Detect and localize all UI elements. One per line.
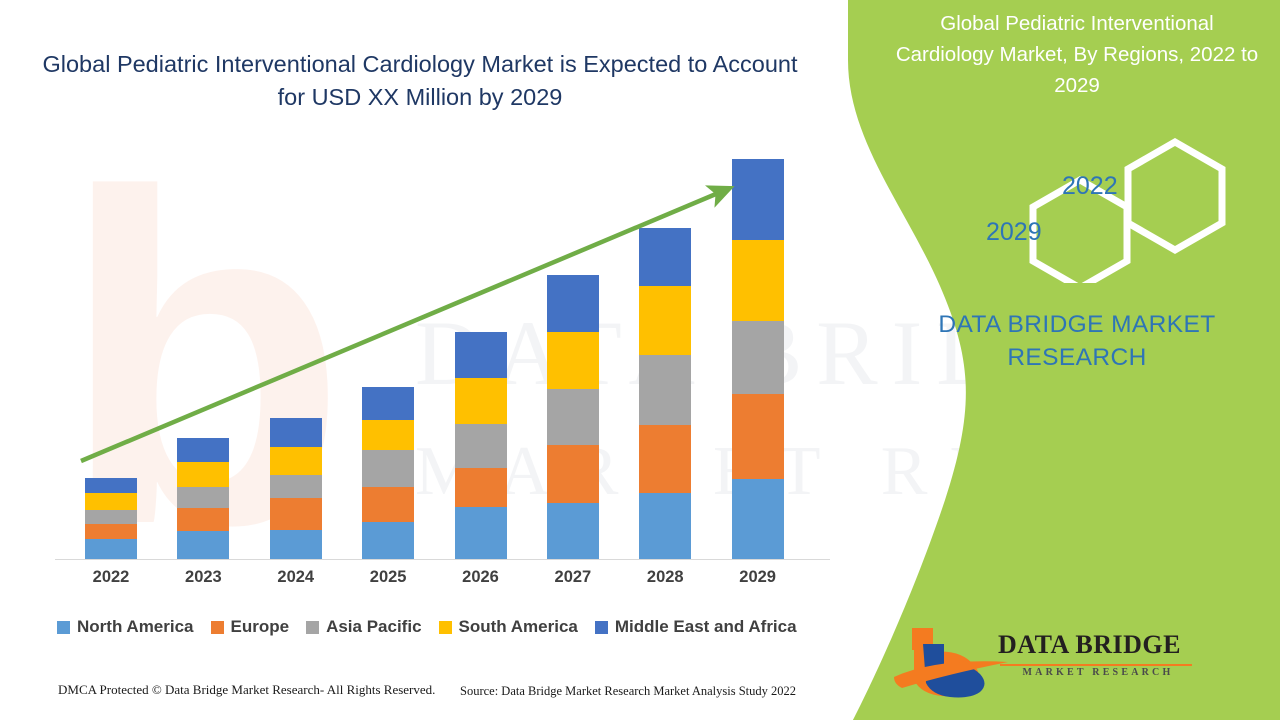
- hexagon-label-2029: 2029: [986, 218, 1042, 247]
- growth-trend-arrow: [55, 160, 830, 560]
- x-axis-label-2022: 2022: [85, 568, 137, 587]
- legend-item[interactable]: Middle East and Africa: [595, 617, 797, 637]
- legend-swatch-icon: [306, 621, 319, 634]
- logo-divider: [1000, 664, 1192, 666]
- logo-name: DATA BRIDGE: [998, 630, 1181, 660]
- hexagon-label-2022: 2022: [1062, 172, 1118, 201]
- hexagon-outline-2022: [1128, 142, 1222, 250]
- legend-item[interactable]: North America: [57, 617, 194, 637]
- x-axis-label-2024: 2024: [270, 568, 322, 587]
- logo-subtitle: MARKET RESEARCH: [1000, 667, 1196, 678]
- legend-label: South America: [459, 617, 578, 637]
- legend-swatch-icon: [57, 621, 70, 634]
- legend-item[interactable]: South America: [439, 617, 578, 637]
- legend-label: Middle East and Africa: [615, 617, 797, 637]
- infographic-canvas: b DATA BRIDGE MARKET RESEARCH Global Ped…: [0, 0, 1280, 720]
- sidebar-title: Global Pediatric Interventional Cardiolo…: [892, 8, 1262, 101]
- legend-label: Asia Pacific: [326, 617, 421, 637]
- x-axis-label-2026: 2026: [455, 568, 507, 587]
- legend-label: Europe: [231, 617, 290, 637]
- x-axis-label-2023: 2023: [177, 568, 229, 587]
- x-axis-label-2028: 2028: [639, 568, 691, 587]
- x-axis-label-2027: 2027: [547, 568, 599, 587]
- x-axis-label-2029: 2029: [732, 568, 784, 587]
- company-logo: DATA BRIDGE MARKET RESEARCH: [888, 622, 1228, 700]
- green-panel-content: Global Pediatric Interventional Cardiolo…: [900, 0, 1280, 720]
- page-title: Global Pediatric Interventional Cardiolo…: [40, 48, 800, 114]
- year-hexagons: [960, 138, 1260, 283]
- legend-item[interactable]: Europe: [211, 617, 290, 637]
- left-content-panel: Global Pediatric Interventional Cardiolo…: [0, 0, 900, 720]
- x-axis-labels: 20222023202420252026202720282029: [55, 568, 830, 594]
- legend-swatch-icon: [595, 621, 608, 634]
- legend-item[interactable]: Asia Pacific: [306, 617, 421, 637]
- legend-label: North America: [77, 617, 194, 637]
- x-axis-label-2025: 2025: [362, 568, 414, 587]
- source-notice: Source: Data Bridge Market Research Mark…: [460, 684, 796, 699]
- legend-swatch-icon: [211, 621, 224, 634]
- legend-swatch-icon: [439, 621, 452, 634]
- copyright-notice: DMCA Protected © Data Bridge Market Rese…: [58, 682, 435, 698]
- brand-name: DATA BRIDGE MARKET RESEARCH: [892, 308, 1262, 374]
- chart-legend: North AmericaEuropeAsia PacificSouth Ame…: [57, 617, 814, 637]
